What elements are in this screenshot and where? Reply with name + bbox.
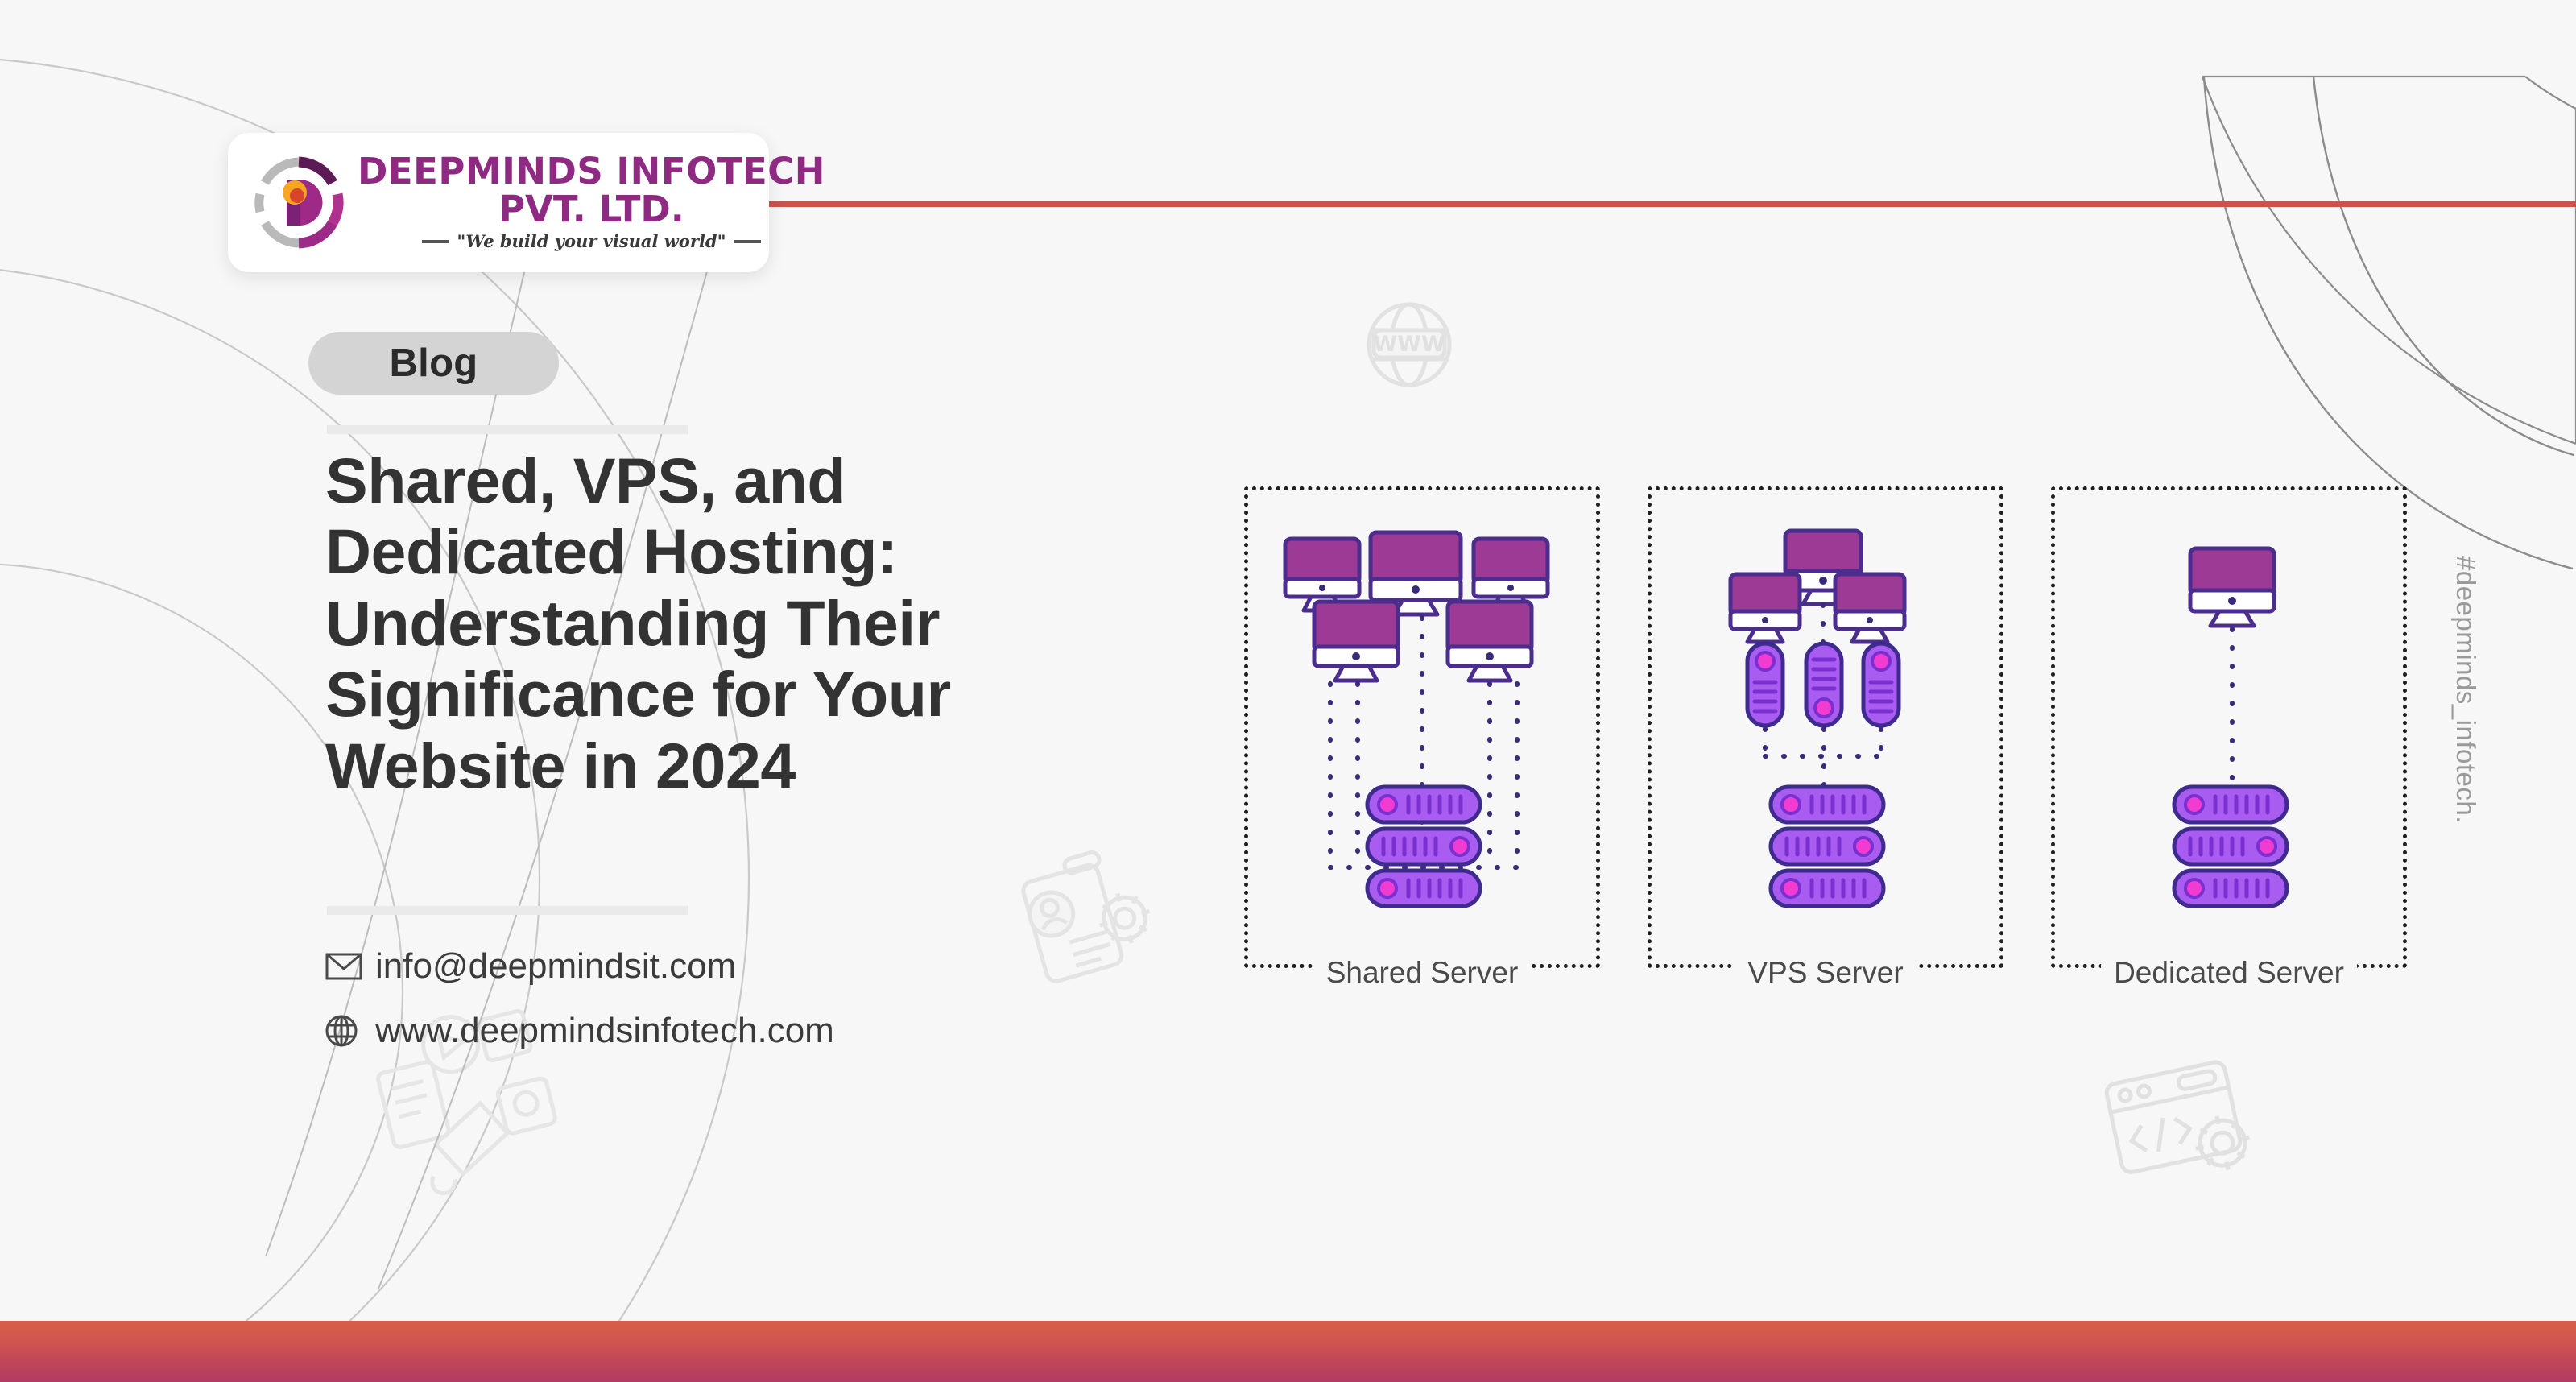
www-globe-watermark-icon: WWW bbox=[1369, 304, 1449, 385]
code-window-gear-watermark-icon bbox=[2105, 1058, 2255, 1191]
headline-line-1: Shared, VPS, and bbox=[325, 445, 1219, 516]
monitor bbox=[1314, 602, 1398, 681]
footer-gradient-bar bbox=[0, 1321, 2576, 1382]
tagline-dash-left bbox=[422, 240, 449, 243]
contact-block: info@deepmindsit.com www.deepmindsinfote… bbox=[325, 934, 834, 1063]
headline-line-5: Website in 2024 bbox=[325, 730, 1219, 801]
headline-line-3: Understanding Their bbox=[325, 588, 1219, 659]
contact-email: info@deepmindsit.com bbox=[375, 946, 736, 987]
headline-rule-top bbox=[327, 425, 688, 434]
monitor bbox=[2190, 548, 2274, 626]
headline-rule-bottom bbox=[327, 906, 688, 915]
server-stack bbox=[1367, 787, 1480, 906]
profile-card-gear-watermark-icon bbox=[1017, 842, 1161, 983]
monitor bbox=[1730, 574, 1800, 642]
top-right-arc-ring bbox=[2202, 77, 2576, 444]
panel-dedicated-server: Dedicated Server bbox=[2051, 486, 2407, 968]
envelope-icon bbox=[325, 953, 367, 980]
dedicated-server-graphic bbox=[2055, 490, 2403, 964]
contact-row-website[interactable]: www.deepmindsinfotech.com bbox=[325, 999, 834, 1063]
monitor bbox=[1835, 574, 1904, 642]
hashtag-vertical: #deepminds_infotech. bbox=[2450, 556, 2481, 824]
globe-icon bbox=[325, 1015, 367, 1047]
panel-label-dedicated: Dedicated Server bbox=[2101, 956, 2357, 990]
deepminds-d-logo-icon bbox=[249, 152, 349, 253]
blog-badge[interactable]: Blog bbox=[308, 332, 559, 395]
panel-shared-server: Shared Server bbox=[1244, 486, 1600, 968]
contact-row-email[interactable]: info@deepmindsit.com bbox=[325, 934, 834, 999]
vps-units bbox=[1747, 643, 1899, 726]
headline-line-4: Significance for Your bbox=[325, 659, 1219, 730]
contact-website: www.deepmindsinfotech.com bbox=[375, 1011, 834, 1051]
server-stack bbox=[1771, 787, 1883, 906]
panel-label-shared: Shared Server bbox=[1313, 956, 1532, 990]
logo-wordmark: DEEPMINDS INFOTECH PVT. LTD. "We build y… bbox=[358, 154, 825, 252]
header-red-rule bbox=[769, 201, 2576, 207]
logo-line-2: PVT. LTD. bbox=[358, 191, 825, 228]
page-title: Shared, VPS, and Dedicated Hosting: Unde… bbox=[325, 445, 1219, 801]
panel-vps-server: VPS Server bbox=[1648, 486, 2003, 968]
shared-server-graphic bbox=[1248, 490, 1596, 964]
panel-label-vps: VPS Server bbox=[1735, 956, 1916, 990]
svg-text:WWW: WWW bbox=[1373, 332, 1445, 357]
headline-line-2: Dedicated Hosting: bbox=[325, 516, 1219, 587]
monitor bbox=[1448, 602, 1532, 681]
server-stack bbox=[2174, 787, 2287, 906]
vps-server-graphic bbox=[1652, 490, 1999, 964]
blog-badge-label: Blog bbox=[389, 341, 478, 386]
poster-canvas: WWW bbox=[0, 0, 2576, 1382]
brand-logo-card[interactable]: DEEPMINDS INFOTECH PVT. LTD. "We build y… bbox=[228, 133, 769, 272]
logo-tagline: "We build your visual world" bbox=[457, 231, 726, 251]
logo-line-1: DEEPMINDS INFOTECH bbox=[358, 154, 825, 189]
tagline-dash-right bbox=[734, 240, 761, 243]
